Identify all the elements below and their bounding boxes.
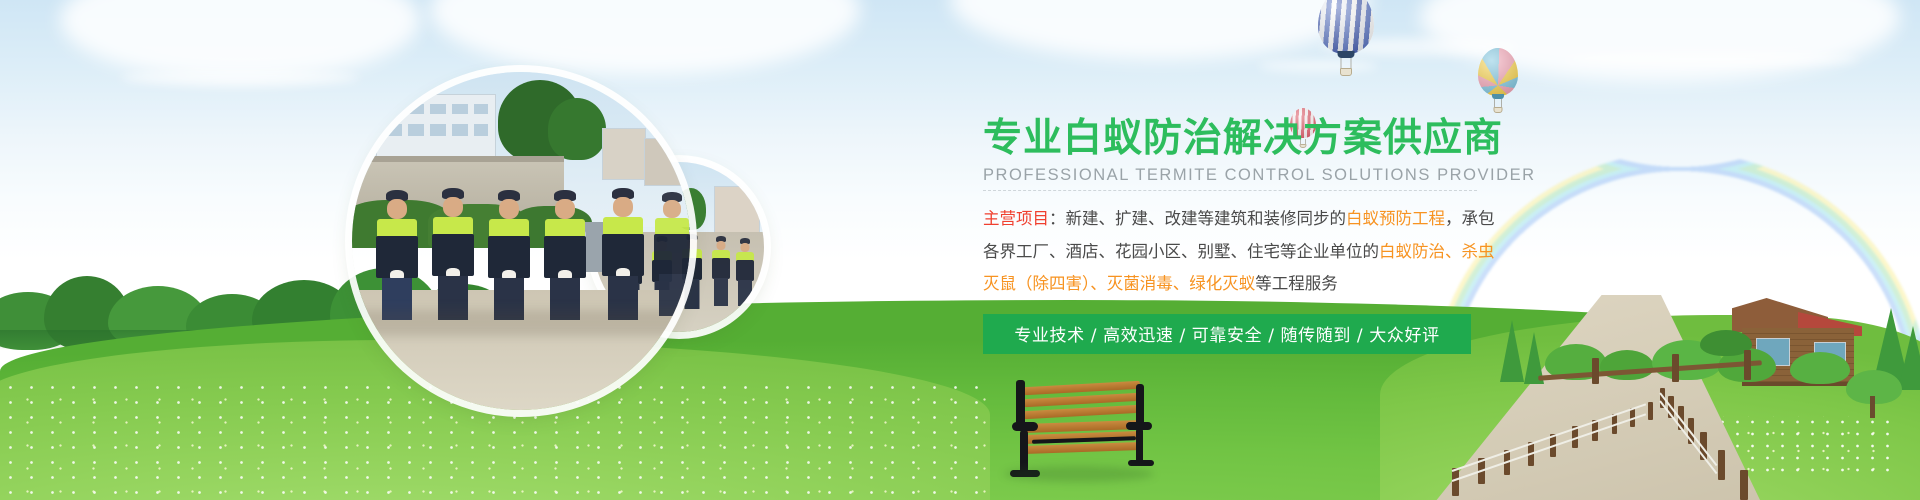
team-photo-main: [352, 72, 690, 410]
fence-post: [1592, 358, 1599, 384]
desc-line2-keyword: 白蚁防治、杀虫: [1379, 242, 1495, 261]
hot-air-balloon-blue-white-icon: [1318, 0, 1374, 83]
bush: [1790, 352, 1850, 384]
fence-post: [1744, 350, 1751, 380]
desc-line1-text-a: ：新建、扩建、改建等建筑和装修同步的: [1049, 209, 1346, 228]
promotional-banner: 专业白蚁防治解决方案供应商 PROFESSIONAL TERMITE CONTR…: [0, 0, 1920, 500]
desc-line3-keyword: 灭鼠（除四害）、灭菌消毒、绿化灭蚁: [983, 274, 1255, 293]
subtitle-english: PROFESSIONAL TERMITE CONTROL SOLUTIONS P…: [983, 166, 1503, 185]
bench-shadow: [1004, 466, 1154, 482]
tree-trunk: [1870, 396, 1875, 418]
fence-post: [1672, 354, 1679, 382]
banner-text-block: 专业白蚁防治解决方案供应商 PROFESSIONAL TERMITE CONTR…: [983, 118, 1503, 354]
park-bench: [1010, 378, 1155, 483]
desc-label: 主营项目: [983, 209, 1049, 228]
desc-line3-text-a: 等工程服务: [1255, 274, 1338, 293]
desc-line1-keyword: 白蚁预防工程: [1346, 209, 1445, 228]
feature-highlight-bar[interactable]: 专业技术 / 高效迅速 / 可靠安全 / 随传随到 / 大众好评: [983, 314, 1471, 354]
desc-line1-text-b: ，承包: [1445, 209, 1495, 228]
divider: [983, 190, 1477, 191]
desc-line2-text-a: 各界工厂、酒店、花园小区、别墅、住宅等企业单位的: [983, 242, 1379, 261]
feature-bar-label: 专业技术 / 高效迅速 / 可靠安全 / 随传随到 / 大众好评: [1014, 321, 1439, 346]
hot-air-balloon-yellow-pink-icon: [1478, 48, 1518, 118]
page-title: 专业白蚁防治解决方案供应商: [983, 118, 1503, 159]
service-description: 主营项目：新建、扩建、改建等建筑和装修同步的白蚁预防工程，承包各界工厂、酒店、花…: [983, 203, 1495, 300]
